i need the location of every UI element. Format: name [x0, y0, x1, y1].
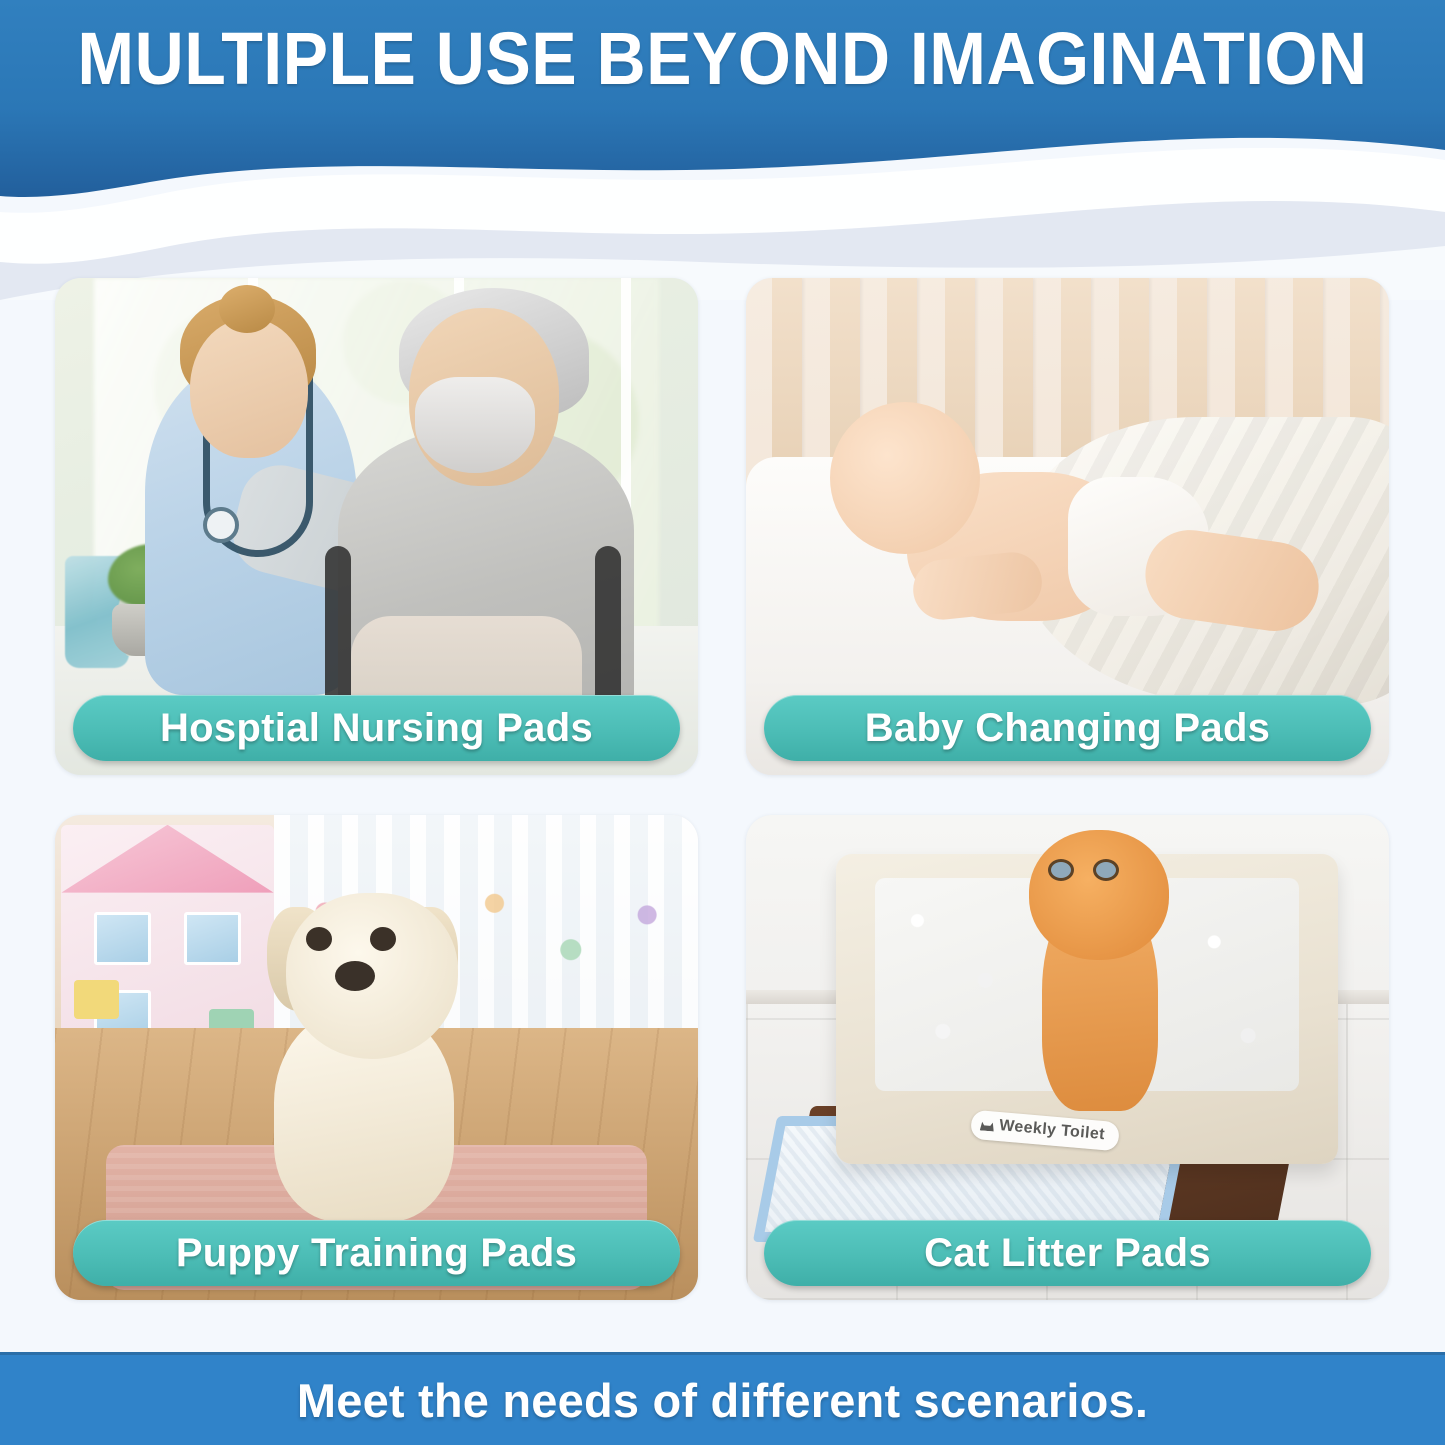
- card-baby-changing[interactable]: Baby Changing Pads: [746, 278, 1389, 775]
- poster-root: MULTIPLE USE BEYOND IMAGINATION: [0, 0, 1445, 1445]
- card-hospital-nursing[interactable]: Hosptial Nursing Pads: [55, 278, 698, 775]
- caption-pill-hospital-nursing: Hosptial Nursing Pads: [73, 695, 680, 761]
- header-banner: MULTIPLE USE BEYOND IMAGINATION: [0, 0, 1445, 300]
- card-puppy-training[interactable]: Puppy Training Pads: [55, 815, 698, 1300]
- page-title: MULTIPLE USE BEYOND IMAGINATION: [58, 22, 1387, 96]
- caption-label: Puppy Training Pads: [176, 1231, 577, 1276]
- caption-pill-baby-changing: Baby Changing Pads: [764, 695, 1371, 761]
- caption-pill-puppy-training: Puppy Training Pads: [73, 1220, 680, 1286]
- footer-banner: Meet the needs of different scenarios.: [0, 1352, 1445, 1445]
- caption-label: Cat Litter Pads: [924, 1231, 1211, 1276]
- card-cat-litter[interactable]: Weekly Toilet Cat Litter Pads: [746, 815, 1389, 1300]
- footer-tagline: Meet the needs of different scenarios.: [297, 1373, 1148, 1428]
- caption-pill-cat-litter: Cat Litter Pads: [764, 1220, 1371, 1286]
- caption-label: Baby Changing Pads: [865, 706, 1270, 751]
- caption-label: Hosptial Nursing Pads: [160, 706, 593, 751]
- use-case-grid: Hosptial Nursing Pads: [55, 278, 1389, 1300]
- brand-tag-label: Weekly Toilet: [999, 1117, 1106, 1143]
